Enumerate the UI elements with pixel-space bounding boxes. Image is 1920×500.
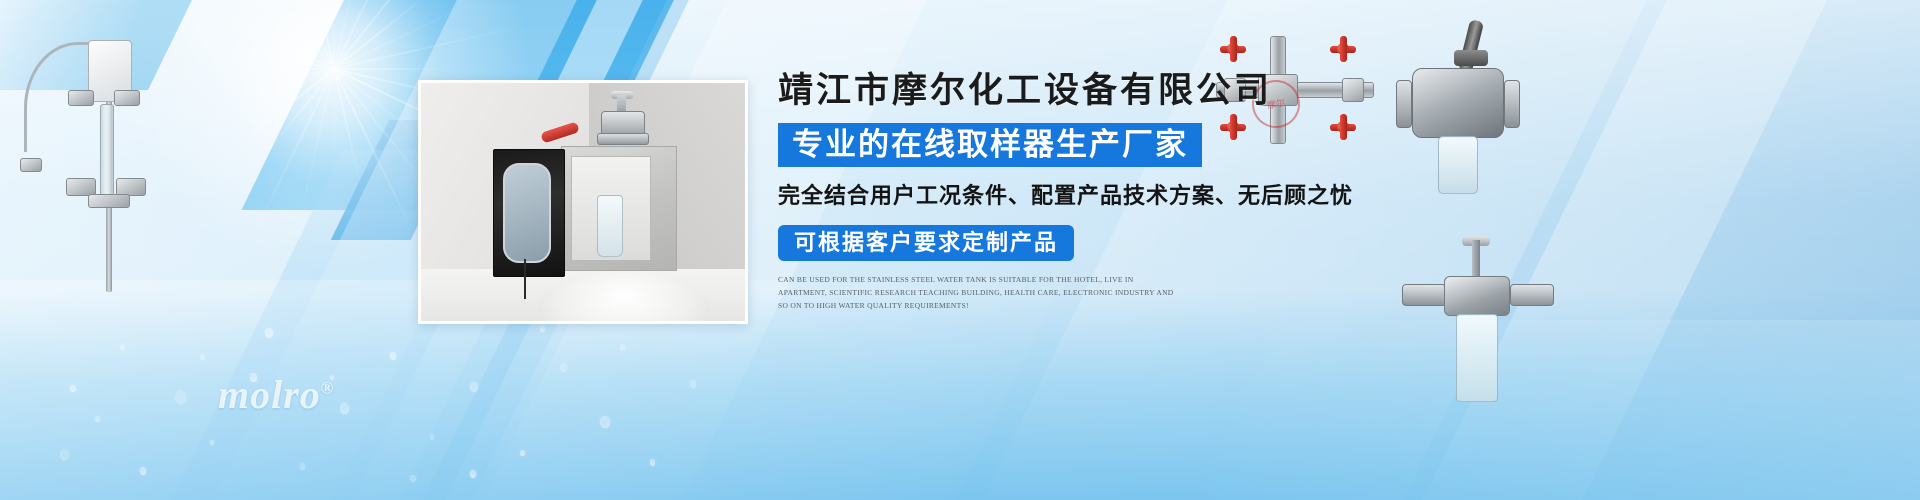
left-equipment-image	[10, 18, 180, 298]
probe-sight-tube	[100, 104, 114, 196]
company-title: 靖江市摩尔化工设备有限公司	[778, 72, 1478, 111]
probe-side-valve	[20, 158, 42, 172]
headline-highlight: 专业的在线取样器生产厂家	[778, 123, 1202, 167]
valve-lever-grip	[1454, 50, 1488, 66]
valve-flange	[597, 133, 649, 145]
sample-bottle	[597, 195, 623, 257]
product-photo-inner	[421, 83, 745, 321]
valve-flange-right	[1504, 80, 1520, 128]
watermark-registered-icon: ®	[321, 379, 335, 398]
customization-cta[interactable]: 可根据客户要求定制产品	[778, 225, 1074, 261]
brand-watermark: molro®	[218, 371, 335, 418]
subheadline: 完全结合用户工况条件、配置产品技术方案、无后顾之忧	[778, 181, 1478, 211]
sampler-door-window	[503, 163, 551, 263]
probe-base	[88, 194, 130, 208]
watermark-text: molro	[218, 372, 321, 417]
banner-text-block: 靖江市摩尔化工设备有限公司 专业的在线取样器生产厂家 完全结合用户工况条件、配置…	[778, 72, 1478, 312]
handwheel-icon-top-left	[1220, 36, 1246, 62]
probe-fitting-2	[114, 90, 140, 106]
sampler-sight-glass	[1456, 314, 1498, 402]
sampler-arm-right	[1510, 284, 1554, 306]
handwheel-icon-top-right	[1330, 36, 1356, 62]
probe-fitting-1	[68, 90, 94, 106]
english-fineprint: CAN BE USED FOR THE STAINLESS STEEL WATE…	[778, 273, 1178, 312]
sampler-top-valve	[589, 93, 651, 151]
product-photo	[418, 80, 748, 324]
promo-banner: 摩尔 靖江市摩尔化工设备有限公司 专业的在线取样器生产厂家 完全结合用户工况条件…	[0, 0, 1920, 500]
sampler-cable	[524, 259, 526, 299]
